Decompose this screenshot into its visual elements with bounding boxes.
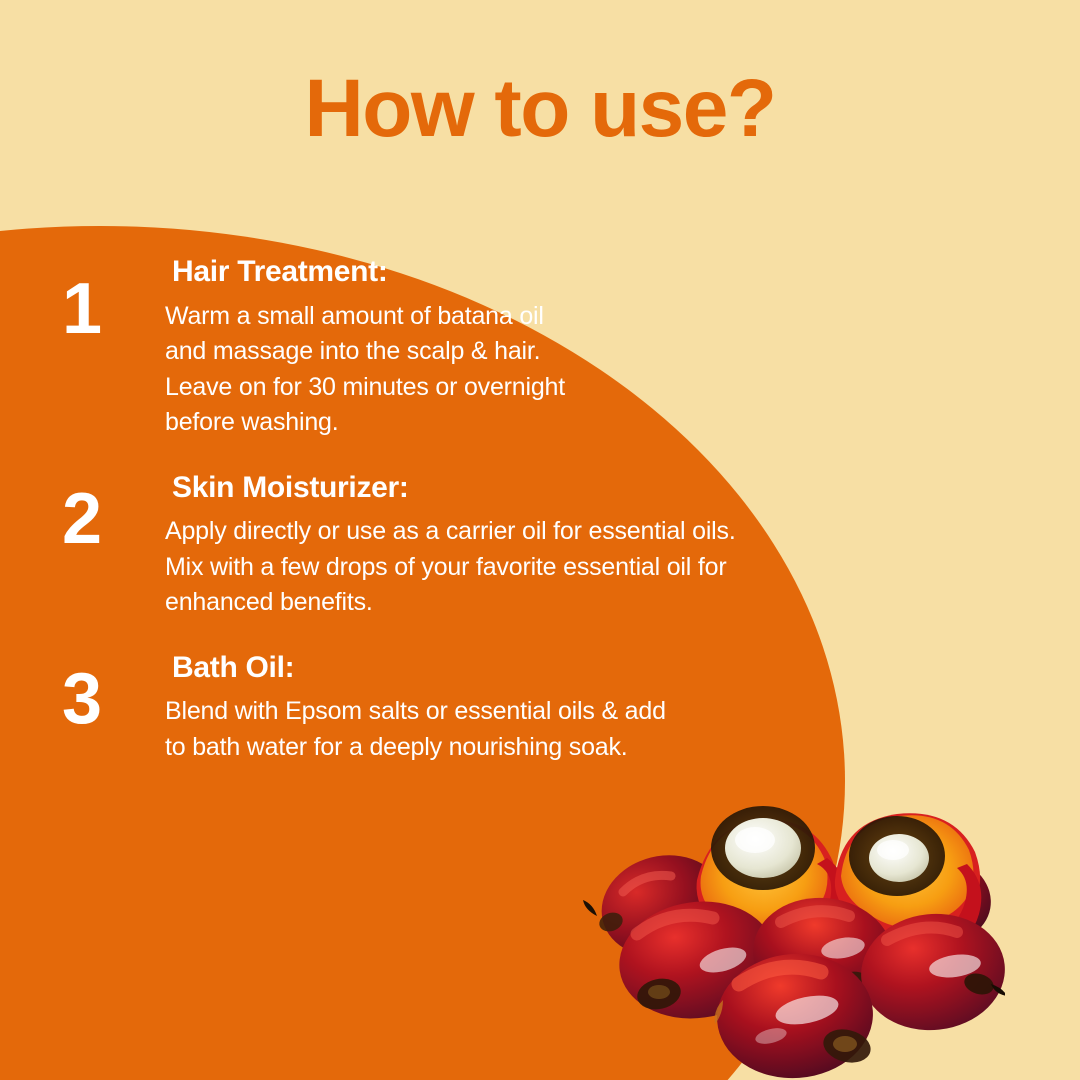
step-number: 2 xyxy=(62,483,132,555)
step-heading: Skin Moisturizer: xyxy=(172,471,770,506)
step-description: Warm a small amount of batana oil and ma… xyxy=(165,299,565,441)
page-title: How to use? xyxy=(0,68,1080,150)
steps-list: 1 Hair Treatment: Warm a small amount of… xyxy=(0,255,820,787)
step-number: 3 xyxy=(62,663,132,735)
step-number: 1 xyxy=(62,273,132,345)
step-heading: Bath Oil: xyxy=(172,651,685,686)
poster-canvas: How to use? 1 Hair Treatment: Warm a sma… xyxy=(0,0,1080,1080)
step-body: Skin Moisturizer: Apply directly or use … xyxy=(165,471,790,621)
step-body: Bath Oil: Blend with Epsom salts or esse… xyxy=(165,651,705,766)
step-description: Apply directly or use as a carrier oil f… xyxy=(165,514,770,621)
list-item: 2 Skin Moisturizer: Apply directly or us… xyxy=(0,471,820,621)
step-description: Blend with Epsom salts or essential oils… xyxy=(165,694,685,765)
palm-fruit-cluster-image xyxy=(575,788,1005,1080)
list-item: 3 Bath Oil: Blend with Epsom salts or es… xyxy=(0,651,820,766)
list-item: 1 Hair Treatment: Warm a small amount of… xyxy=(0,255,820,441)
step-body: Hair Treatment: Warm a small amount of b… xyxy=(165,255,585,441)
step-heading: Hair Treatment: xyxy=(172,255,565,290)
